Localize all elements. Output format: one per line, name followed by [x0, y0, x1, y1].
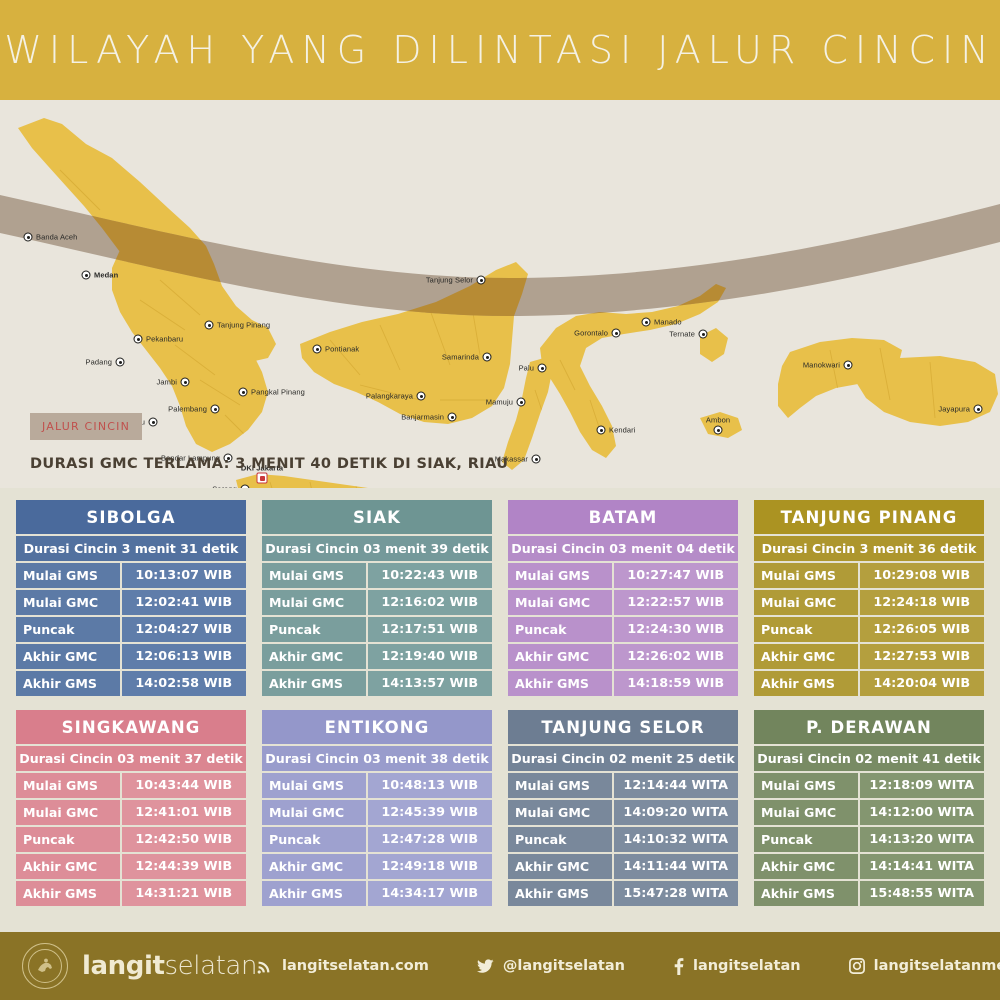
card-row: Puncak12:04:27 WIB	[16, 617, 246, 642]
social-handle: @langitselatan	[503, 958, 625, 974]
card-row-time: 14:09:20 WITA	[614, 800, 739, 825]
instagram-icon	[849, 958, 865, 974]
card-city-name: ENTIKONG	[262, 710, 492, 744]
card-duration: Durasi Cincin 03 menit 37 detik	[16, 746, 246, 771]
card-row-time: 14:31:21 WIB	[122, 881, 247, 906]
city-label: Kendari	[609, 426, 636, 435]
card-row: Puncak12:47:28 WIB	[262, 827, 492, 852]
social-handle: langitselatan	[693, 958, 801, 974]
city-label: Serang	[212, 485, 237, 489]
card-row-label: Mulai GMS	[16, 563, 120, 588]
brand-bold: langit	[82, 951, 165, 981]
city-marker-dot	[974, 405, 983, 414]
brand-light: selatan	[165, 951, 258, 981]
legend-label: JALUR CINCIN	[42, 420, 130, 433]
card-row: Puncak12:17:51 WIB	[262, 617, 492, 642]
card-duration: Durasi Cincin 3 menit 31 detik	[16, 536, 246, 561]
card-duration: Durasi Cincin 03 menit 04 detik	[508, 536, 738, 561]
card-row-label: Puncak	[262, 827, 366, 852]
card-row-time: 12:42:50 WIB	[122, 827, 247, 852]
card-row-time: 12:14:44 WITA	[614, 773, 739, 798]
card-row-label: Mulai GMS	[754, 563, 858, 588]
city-marker-dot	[538, 364, 547, 373]
card-row-label: Mulai GMS	[262, 773, 366, 798]
card-row-label: Akhir GMC	[508, 854, 612, 879]
card-row-time: 10:29:08 WIB	[860, 563, 985, 588]
card-duration: Durasi Cincin 03 menit 39 detik	[262, 536, 492, 561]
card-row-time: 12:04:27 WIB	[122, 617, 247, 642]
city-card: TANJUNG PINANGDurasi Cincin 3 menit 36 d…	[754, 500, 984, 696]
card-row-label: Mulai GMC	[16, 590, 120, 615]
city-label: Manado	[654, 318, 682, 327]
card-row-label: Puncak	[262, 617, 366, 642]
card-row: Puncak14:10:32 WITA	[508, 827, 738, 852]
card-row: Mulai GMC12:45:39 WIB	[262, 800, 492, 825]
card-row: Akhir GMS14:20:04 WIB	[754, 671, 984, 696]
card-row-label: Akhir GMS	[16, 671, 120, 696]
social-link[interactable]: @langitselatan	[477, 958, 625, 974]
card-row-time: 12:19:40 WIB	[368, 644, 493, 669]
card-row-time: 12:06:13 WIB	[122, 644, 247, 669]
card-row-label: Mulai GMC	[508, 590, 612, 615]
social-handle: langitselatan.com	[282, 958, 429, 974]
city-marker-layer: Banda AcehMedanPekanbaruTanjung PinangPa…	[0, 100, 1000, 488]
card-row: Akhir GMS14:18:59 WIB	[508, 671, 738, 696]
card-row-label: Akhir GMC	[754, 854, 858, 879]
card-row-label: Akhir GMS	[508, 881, 612, 906]
card-row: Mulai GMS10:43:44 WIB	[16, 773, 246, 798]
card-city-name: TANJUNG PINANG	[754, 500, 984, 534]
card-row: Mulai GMS12:14:44 WITA	[508, 773, 738, 798]
card-row-label: Akhir GMS	[262, 671, 366, 696]
card-row: Mulai GMS12:18:09 WITA	[754, 773, 984, 798]
city-marker-dot	[211, 405, 220, 414]
card-row-label: Mulai GMC	[754, 590, 858, 615]
social-link[interactable]: langitselatan	[673, 958, 801, 975]
legend-jalur-cincin: JALUR CINCIN	[30, 413, 142, 440]
card-row-time: 12:02:41 WIB	[122, 590, 247, 615]
card-duration: Durasi Cincin 3 menit 36 detik	[754, 536, 984, 561]
card-row: Puncak12:24:30 WIB	[508, 617, 738, 642]
card-row-time: 14:14:41 WITA	[860, 854, 985, 879]
city-card: SIBOLGADurasi Cincin 3 menit 31 detikMul…	[16, 500, 246, 696]
city-label: Banda Aceh	[36, 233, 77, 242]
social-links: langitselatan.com@langitselatanlangitsel…	[257, 958, 1000, 975]
city-label: Mamuju	[486, 398, 513, 407]
card-row: Akhir GMS14:31:21 WIB	[16, 881, 246, 906]
card-row-time: 14:02:58 WIB	[122, 671, 247, 696]
card-row-label: Mulai GMC	[508, 800, 612, 825]
city-label: Palembang	[168, 405, 207, 414]
city-label: Pangkal Pinang	[251, 388, 305, 397]
city-label: Jayapura	[938, 405, 970, 414]
city-label: Banjarmasin	[401, 413, 444, 422]
card-row: Akhir GMC12:26:02 WIB	[508, 644, 738, 669]
card-row: Puncak12:42:50 WIB	[16, 827, 246, 852]
card-row-time: 14:11:44 WITA	[614, 854, 739, 879]
card-row: Akhir GMC14:14:41 WITA	[754, 854, 984, 879]
card-row-label: Puncak	[754, 617, 858, 642]
map-panel: Banda AcehMedanPekanbaruTanjung PinangPa…	[0, 100, 1000, 488]
page-title: WILAYAH YANG DILINTASI JALUR CINCIN	[4, 28, 995, 72]
card-duration: Durasi Cincin 02 menit 25 detik	[508, 746, 738, 771]
city-marker-dot	[477, 276, 486, 285]
horse-rider-icon	[34, 955, 56, 977]
card-row-time: 14:13:20 WITA	[860, 827, 985, 852]
social-link[interactable]: langitselatanmedia	[849, 958, 1000, 974]
city-marker-dot	[241, 485, 250, 489]
city-label: Gorontalo	[574, 329, 608, 338]
city-label: Samarinda	[442, 353, 479, 362]
card-row-time: 12:41:01 WIB	[122, 800, 247, 825]
card-row-time: 14:18:59 WIB	[614, 671, 739, 696]
city-timing-cards: SIBOLGADurasi Cincin 3 menit 31 detikMul…	[0, 488, 1000, 914]
city-marker-dot	[181, 378, 190, 387]
city-label: Tanjung Selor	[426, 276, 473, 285]
city-marker-dot	[149, 418, 158, 427]
card-row-time: 14:13:57 WIB	[368, 671, 493, 696]
card-row-time: 12:22:57 WIB	[614, 590, 739, 615]
card-row: Mulai GMC12:22:57 WIB	[508, 590, 738, 615]
card-row-time: 14:34:17 WIB	[368, 881, 493, 906]
card-row: Akhir GMS15:48:55 WITA	[754, 881, 984, 906]
city-card: TANJUNG SELORDurasi Cincin 02 menit 25 d…	[508, 710, 738, 906]
card-row-label: Mulai GMC	[262, 590, 366, 615]
card-row-label: Puncak	[16, 617, 120, 642]
city-label: Palu	[519, 364, 534, 373]
city-card: ENTIKONGDurasi Cincin 03 menit 38 detikM…	[262, 710, 492, 906]
card-row: Akhir GMS15:47:28 WITA	[508, 881, 738, 906]
page-footer: langitselatan langitselatan.com@langitse…	[0, 932, 1000, 1000]
card-row-time: 10:13:07 WIB	[122, 563, 247, 588]
city-marker-dot	[239, 388, 248, 397]
card-row: Akhir GMC14:11:44 WITA	[508, 854, 738, 879]
card-row-time: 15:48:55 WITA	[860, 881, 985, 906]
card-row-time: 12:17:51 WIB	[368, 617, 493, 642]
card-row: Mulai GMC12:41:01 WIB	[16, 800, 246, 825]
card-row: Mulai GMS10:27:47 WIB	[508, 563, 738, 588]
card-row-label: Mulai GMC	[754, 800, 858, 825]
card-city-name: BATAM	[508, 500, 738, 534]
card-city-name: TANJUNG SELOR	[508, 710, 738, 744]
card-row-label: Akhir GMS	[508, 671, 612, 696]
card-row-time: 12:49:18 WIB	[368, 854, 493, 879]
card-row-time: 10:48:13 WIB	[368, 773, 493, 798]
card-row: Mulai GMS10:22:43 WIB	[262, 563, 492, 588]
brand-wordmark: langitselatan	[82, 951, 257, 981]
card-row-time: 12:26:05 WIB	[860, 617, 985, 642]
city-marker-dot	[82, 271, 91, 280]
card-row: Puncak14:13:20 WITA	[754, 827, 984, 852]
card-row-time: 12:26:02 WIB	[614, 644, 739, 669]
card-row: Mulai GMC14:09:20 WITA	[508, 800, 738, 825]
card-row-label: Mulai GMC	[16, 800, 120, 825]
city-label: Tanjung Pinang	[217, 321, 270, 330]
card-row-time: 12:18:09 WITA	[860, 773, 985, 798]
city-marker-dot	[448, 413, 457, 422]
card-row: Mulai GMC12:16:02 WIB	[262, 590, 492, 615]
city-marker-dot	[612, 329, 621, 338]
city-card: SINGKAWANGDurasi Cincin 03 menit 37 deti…	[16, 710, 246, 906]
card-row-label: Mulai GMS	[16, 773, 120, 798]
card-row: Akhir GMS14:02:58 WIB	[16, 671, 246, 696]
card-city-name: P. DERAWAN	[754, 710, 984, 744]
card-row-label: Akhir GMC	[16, 854, 120, 879]
card-row-label: Akhir GMC	[508, 644, 612, 669]
city-card: BATAMDurasi Cincin 03 menit 04 detikMula…	[508, 500, 738, 696]
city-marker-dot	[517, 398, 526, 407]
card-row-label: Mulai GMS	[508, 563, 612, 588]
city-label: Ternate	[669, 330, 695, 339]
card-row-label: Akhir GMC	[262, 644, 366, 669]
city-label: Manokwari	[803, 361, 840, 370]
card-row-label: Akhir GMS	[16, 881, 120, 906]
card-row-label: Puncak	[508, 827, 612, 852]
city-marker-dot	[642, 318, 651, 327]
card-row-time: 10:27:47 WIB	[614, 563, 739, 588]
card-row-label: Akhir GMC	[754, 644, 858, 669]
city-label: Ambon	[706, 416, 730, 425]
card-row-label: Akhir GMC	[262, 854, 366, 879]
city-label: Pontianak	[325, 345, 359, 354]
rss-icon	[257, 958, 273, 974]
card-city-name: SIAK	[262, 500, 492, 534]
card-row-time: 12:24:30 WIB	[614, 617, 739, 642]
city-marker-dot	[597, 426, 606, 435]
social-handle: langitselatanmedia	[874, 958, 1000, 974]
city-marker-dot	[483, 353, 492, 362]
city-marker-dot	[714, 426, 723, 435]
card-row-time: 12:27:53 WIB	[860, 644, 985, 669]
card-row-label: Mulai GMS	[262, 563, 366, 588]
card-row-label: Akhir GMS	[262, 881, 366, 906]
city-marker-dot	[417, 392, 426, 401]
card-row-time: 14:20:04 WIB	[860, 671, 985, 696]
card-row-label: Mulai GMC	[262, 800, 366, 825]
card-row: Mulai GMC12:02:41 WIB	[16, 590, 246, 615]
city-marker-dot	[116, 358, 125, 367]
city-marker-dot	[699, 330, 708, 339]
card-row: Mulai GMC14:12:00 WITA	[754, 800, 984, 825]
card-row: Akhir GMC12:06:13 WIB	[16, 644, 246, 669]
card-row-time: 12:16:02 WIB	[368, 590, 493, 615]
card-city-name: SIBOLGA	[16, 500, 246, 534]
card-row: Akhir GMC12:27:53 WIB	[754, 644, 984, 669]
city-marker-dot	[257, 473, 268, 484]
langitselatan-seal-icon	[22, 943, 68, 989]
card-row-label: Akhir GMC	[16, 644, 120, 669]
card-row-label: Mulai GMS	[754, 773, 858, 798]
card-row: Akhir GMC12:44:39 WIB	[16, 854, 246, 879]
city-marker-dot	[134, 335, 143, 344]
city-label: Medan	[94, 271, 118, 280]
city-label: Padang	[86, 358, 112, 367]
card-row: Mulai GMS10:29:08 WIB	[754, 563, 984, 588]
city-label: Palangkaraya	[366, 392, 413, 401]
city-marker-dot	[532, 455, 541, 464]
twitter-icon	[477, 959, 494, 974]
card-row-time: 12:47:28 WIB	[368, 827, 493, 852]
social-link[interactable]: langitselatan.com	[257, 958, 429, 974]
card-row-time: 14:10:32 WITA	[614, 827, 739, 852]
card-duration: Durasi Cincin 02 menit 41 detik	[754, 746, 984, 771]
card-row-time: 14:12:00 WITA	[860, 800, 985, 825]
page-header: WILAYAH YANG DILINTASI JALUR CINCIN	[0, 0, 1000, 100]
city-label: Pekanbaru	[146, 335, 183, 344]
card-duration: Durasi Cincin 03 menit 38 detik	[262, 746, 492, 771]
card-row-time: 15:47:28 WITA	[614, 881, 739, 906]
card-row-time: 12:24:18 WIB	[860, 590, 985, 615]
card-row-label: Akhir GMS	[754, 881, 858, 906]
card-row: Akhir GMC12:49:18 WIB	[262, 854, 492, 879]
card-city-name: SINGKAWANG	[16, 710, 246, 744]
card-row-label: Mulai GMS	[508, 773, 612, 798]
card-row-time: 10:43:44 WIB	[122, 773, 247, 798]
card-row: Mulai GMS10:48:13 WIB	[262, 773, 492, 798]
card-row-label: Akhir GMS	[754, 671, 858, 696]
city-marker-dot	[24, 233, 33, 242]
card-row: Akhir GMS14:13:57 WIB	[262, 671, 492, 696]
card-row: Akhir GMC12:19:40 WIB	[262, 644, 492, 669]
map-caption: DURASI GMC TERLAMA: 3 MENIT 40 DETIK DI …	[30, 456, 508, 472]
card-row-label: Puncak	[16, 827, 120, 852]
city-marker-dot	[205, 321, 214, 330]
city-marker-dot	[844, 361, 853, 370]
city-card: P. DERAWANDurasi Cincin 02 menit 41 deti…	[754, 710, 984, 906]
card-row-label: Puncak	[754, 827, 858, 852]
card-row-time: 10:22:43 WIB	[368, 563, 493, 588]
card-row: Mulai GMC12:24:18 WIB	[754, 590, 984, 615]
city-card: SIAKDurasi Cincin 03 menit 39 detikMulai…	[262, 500, 492, 696]
facebook-icon	[673, 958, 684, 975]
card-row: Akhir GMS14:34:17 WIB	[262, 881, 492, 906]
card-row: Puncak12:26:05 WIB	[754, 617, 984, 642]
card-row-time: 12:44:39 WIB	[122, 854, 247, 879]
card-row-label: Puncak	[508, 617, 612, 642]
city-marker-dot	[313, 345, 322, 354]
city-label: Jambi	[156, 378, 177, 387]
card-row: Mulai GMS10:13:07 WIB	[16, 563, 246, 588]
card-row-time: 12:45:39 WIB	[368, 800, 493, 825]
